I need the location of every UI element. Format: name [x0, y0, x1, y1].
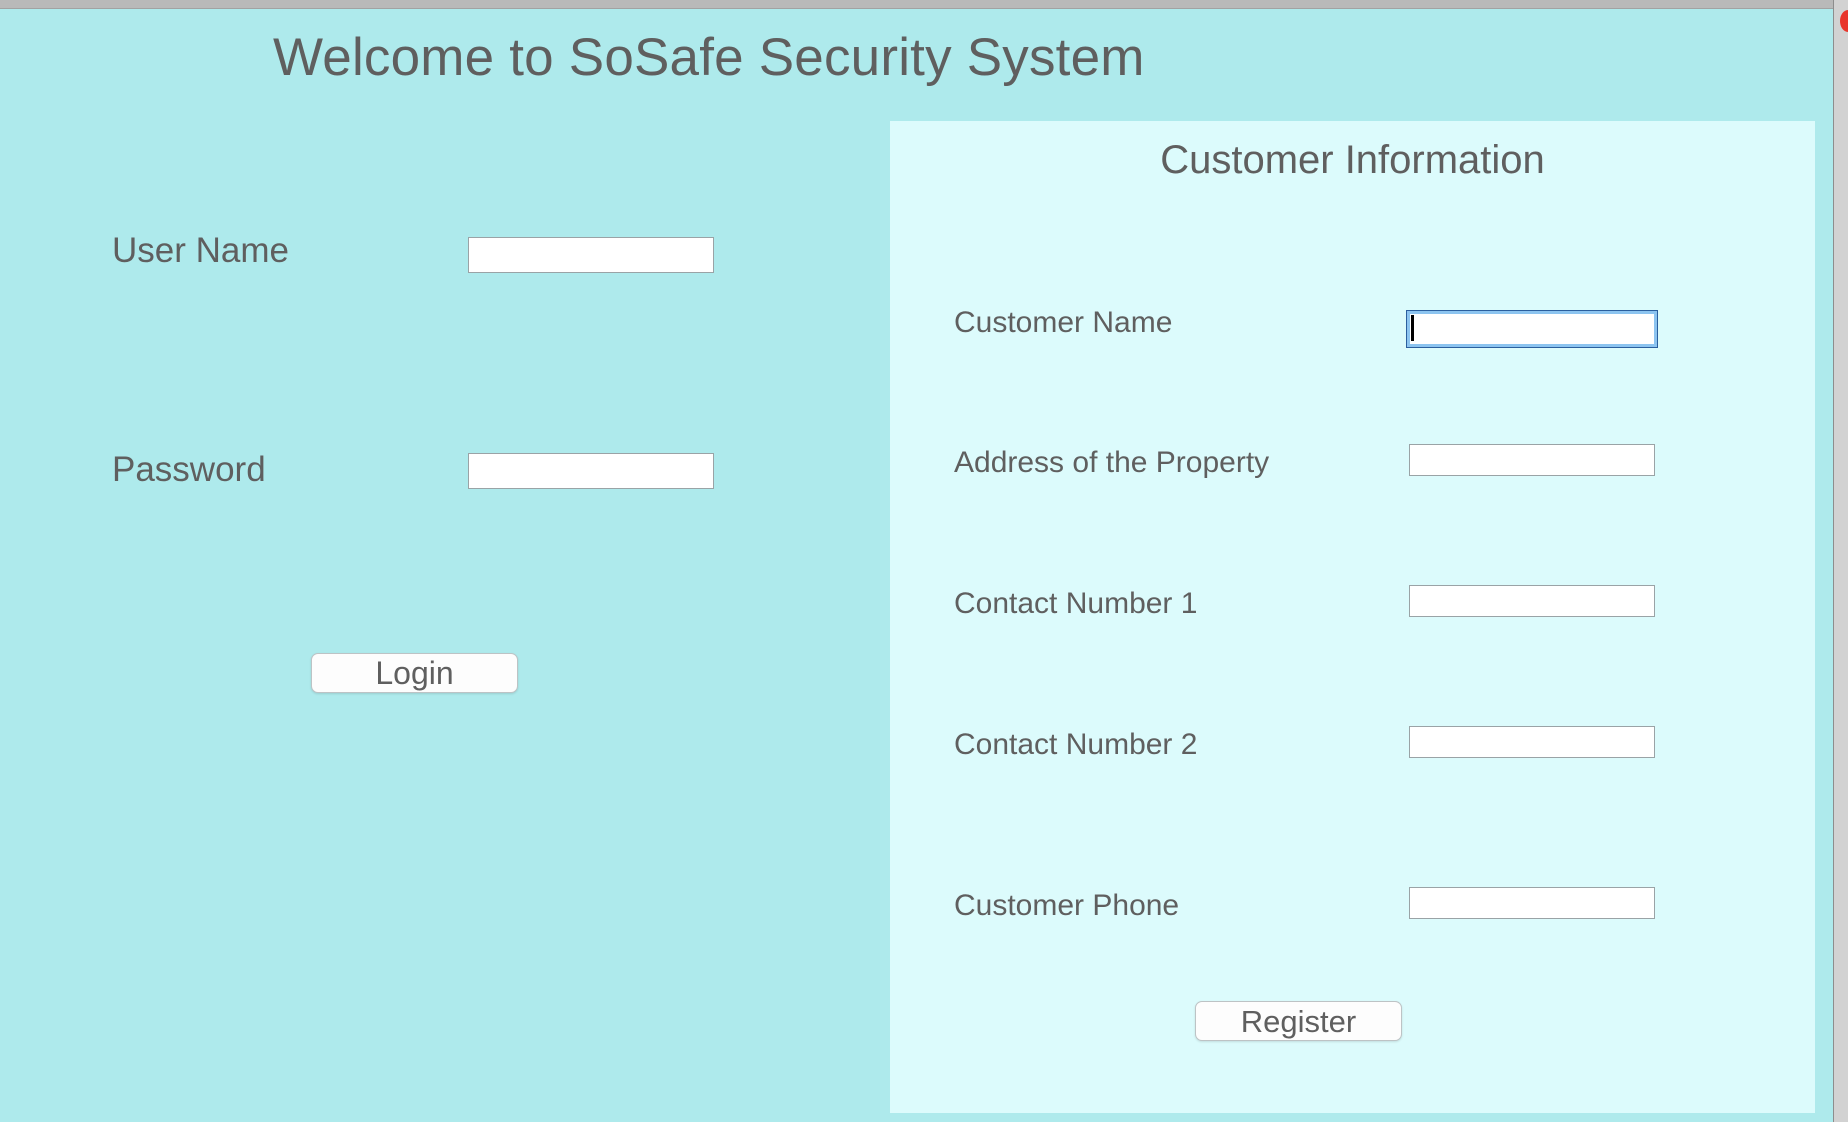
close-icon[interactable] [1840, 10, 1848, 32]
page-title: Welcome to SoSafe Security System [273, 27, 1113, 88]
contact-number-1-input[interactable] [1409, 585, 1655, 617]
customer-phone-input[interactable] [1409, 887, 1655, 919]
password-label: Password [112, 450, 266, 490]
username-label: User Name [112, 231, 289, 271]
customer-name-label: Customer Name [954, 306, 1172, 340]
customer-information-title: Customer Information [890, 138, 1815, 183]
contact-number-1-label: Contact Number 1 [954, 587, 1197, 621]
background-window-text-sliver [0, 1115, 1848, 1122]
login-button[interactable]: Login [311, 653, 518, 693]
login-form-surface: Welcome to SoSafe Security System User N… [0, 9, 1833, 1113]
contact-number-2-label: Contact Number 2 [954, 728, 1197, 762]
password-input[interactable] [468, 453, 714, 489]
customer-name-input-wrapper[interactable] [1406, 310, 1658, 348]
text-cursor-caret [1411, 315, 1414, 341]
address-of-property-label: Address of the Property [954, 446, 1269, 480]
contact-number-2-input[interactable] [1409, 726, 1655, 758]
address-of-property-input[interactable] [1409, 444, 1655, 476]
register-button[interactable]: Register [1195, 1001, 1402, 1041]
customer-phone-label: Customer Phone [954, 889, 1179, 923]
background-window-right-chrome [1833, 0, 1848, 1122]
window-top-chrome-strip [0, 0, 1848, 9]
username-input[interactable] [468, 237, 714, 273]
application-window: Welcome to SoSafe Security System User N… [0, 0, 1848, 1122]
